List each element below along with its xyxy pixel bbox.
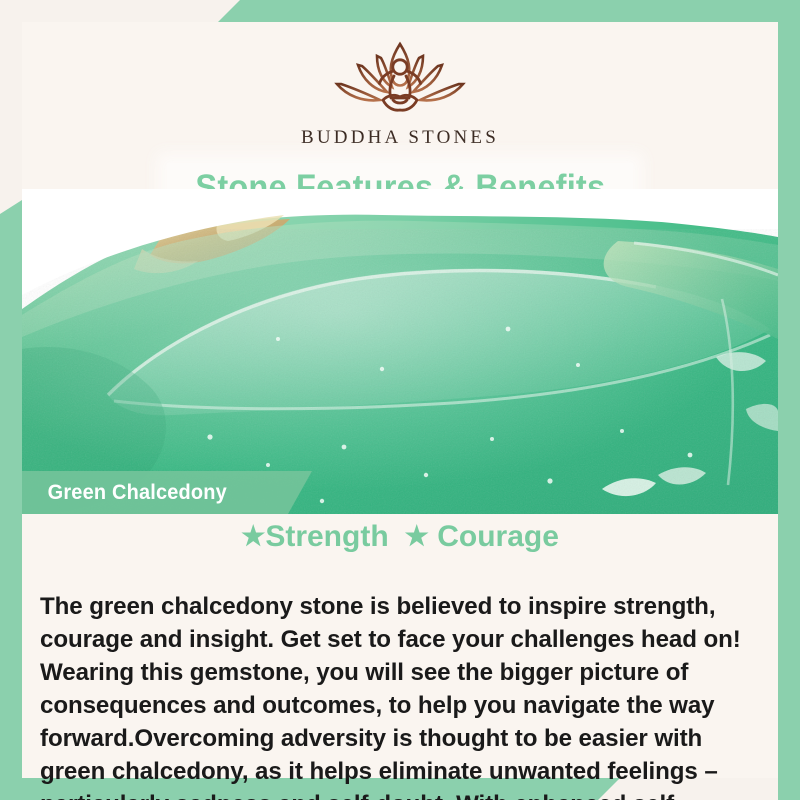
brand-header: BUDDHA STONES (22, 22, 778, 157)
frame-strip-top (218, 0, 800, 22)
brand-name: BUDDHA STONES (301, 127, 499, 149)
poster: BUDDHA STONES Stone Features & Benefits (0, 0, 800, 800)
stone-name-badge: Green Chalcedony (22, 471, 312, 514)
frame-strip-right (778, 0, 800, 800)
star-icon-1: ★ (241, 521, 265, 551)
benefits-row: ★Strength★ Courage (22, 520, 778, 554)
lotus-meditation-icon (325, 38, 475, 124)
star-icon-2: ★ (405, 521, 429, 551)
stone-name-label: Green Chalcedony (22, 481, 227, 505)
benefit-label-strength: Strength (265, 520, 388, 553)
frame-strip-left (0, 200, 22, 800)
gemstone-photo: Green Chalcedony (22, 189, 778, 514)
benefit-label-courage: Courage (437, 520, 559, 553)
description-paragraph: The green chalcedony stone is believed t… (40, 590, 759, 800)
poster-card: BUDDHA STONES Stone Features & Benefits (22, 22, 778, 778)
